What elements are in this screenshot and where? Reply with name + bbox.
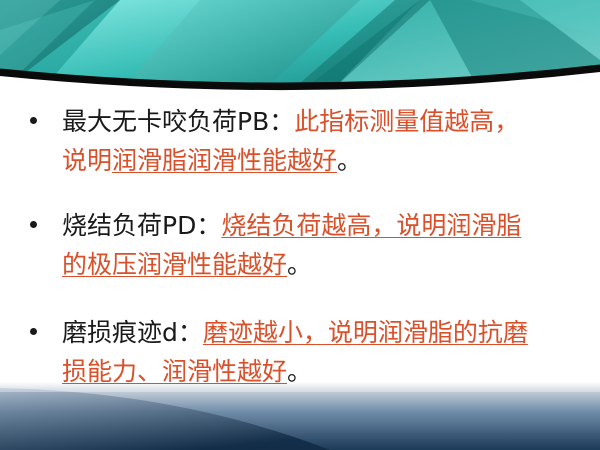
bullet-item-1: 最大无卡咬负荷PB：此指标测量值越高， 说明润滑脂润滑性能越好。	[30, 104, 586, 182]
bullet-3-period: 。	[287, 357, 312, 386]
bullet-3-underlined-a: 磨迹越小，说明润滑脂的抗磨	[203, 318, 528, 347]
bullet-item-3: 磨损痕迹d：磨迹越小，说明润滑脂的抗磨 损能力、润滑性越好。	[30, 315, 586, 393]
bullet-1-highlight-a: 此指标测量值越高，	[294, 107, 519, 136]
bullet-1-line-1: 最大无卡咬负荷PB：此指标测量值越高，	[30, 104, 586, 143]
bullet-3-line-1: 磨损痕迹d：磨迹越小，说明润滑脂的抗磨	[30, 315, 586, 354]
bullet-2-underlined-b: 的极压润滑性能越好	[62, 250, 287, 279]
bullet-marker-icon	[30, 221, 37, 228]
bullet-marker-icon	[30, 328, 37, 335]
bullet-2-label: 烧结负荷PD：	[62, 211, 221, 240]
bullet-2-period: 。	[287, 250, 312, 279]
slide-header-banner	[0, 0, 600, 92]
bullet-1-line-2: 说明润滑脂润滑性能越好。	[30, 143, 586, 182]
bullet-2-line-1: 烧结负荷PD：烧结负荷越高，说明润滑脂	[30, 208, 586, 247]
bullet-marker-icon	[30, 117, 37, 124]
bullet-3-underlined-b: 损能力、润滑性越好	[62, 357, 287, 386]
bullet-3-label: 磨损痕迹d：	[62, 318, 203, 347]
bullet-1-label: 最大无卡咬负荷PB：	[62, 107, 294, 136]
bullet-2-line-2: 的极压润滑性能越好。	[30, 247, 586, 286]
slide-content: 最大无卡咬负荷PB：此指标测量值越高， 说明润滑脂润滑性能越好。 烧结负荷PD：…	[0, 96, 600, 396]
bullet-1-highlight-b: 说明	[62, 146, 112, 175]
bullet-2-underlined-a: 烧结负荷越高，说明润滑脂	[221, 211, 521, 240]
header-decoration-graphic	[0, 0, 600, 92]
bullet-item-2: 烧结负荷PD：烧结负荷越高，说明润滑脂 的极压润滑性能越好。	[30, 208, 586, 286]
presentation-slide: 最大无卡咬负荷PB：此指标测量值越高， 说明润滑脂润滑性能越好。 烧结负荷PD：…	[0, 0, 600, 450]
bullet-3-line-2: 损能力、润滑性越好。	[30, 354, 586, 393]
bullet-1-underlined: 润滑脂润滑性能越好	[112, 146, 337, 175]
bullet-1-period: 。	[337, 146, 362, 175]
